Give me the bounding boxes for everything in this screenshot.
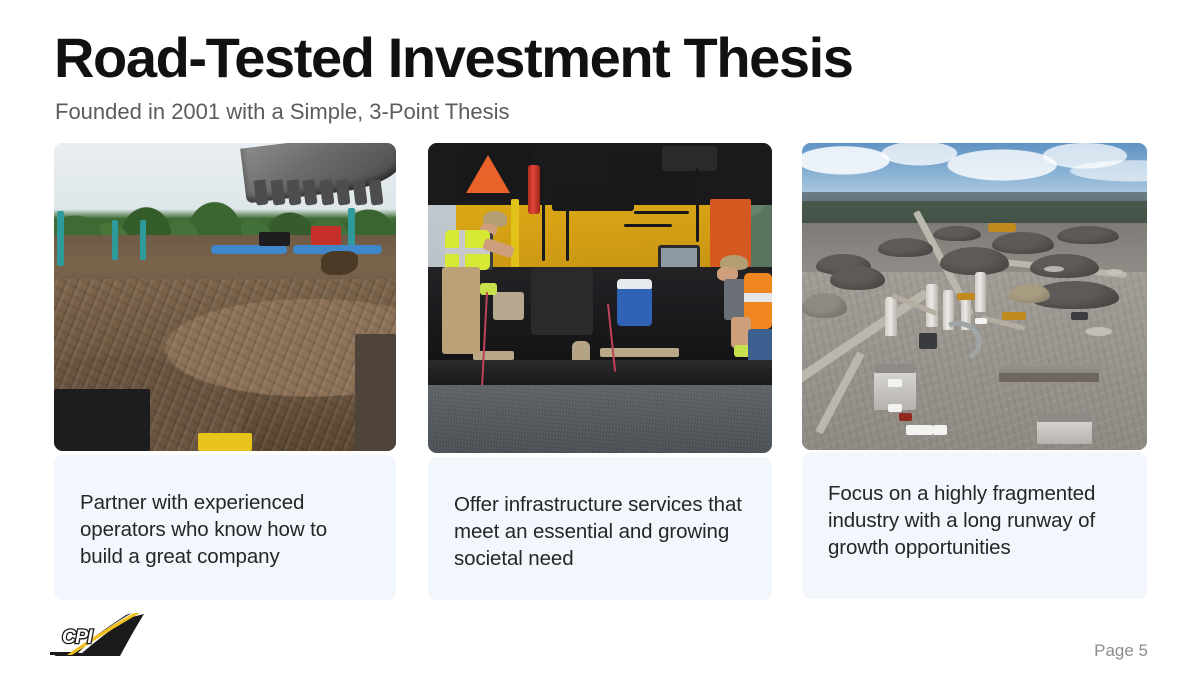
thesis-card-1-text: Partner with experienced operators who k… [80, 489, 370, 570]
feed-bin-wall [999, 373, 1099, 382]
stockpile [878, 238, 933, 256]
warning-triangle-sign [466, 155, 510, 193]
pickup-truck [888, 404, 902, 412]
plant-building [1037, 419, 1092, 444]
trailer [933, 425, 947, 434]
silt-fence [54, 389, 150, 451]
asphalt-paving-machine-photo [428, 143, 772, 453]
logo-text: CPI [62, 627, 93, 648]
stockpile [992, 232, 1054, 253]
silo [926, 284, 938, 327]
water-puddle [1044, 266, 1065, 272]
stockpile [1030, 254, 1099, 279]
hydraulic-hose [624, 224, 672, 227]
plant-machinery [919, 333, 936, 348]
excavator-bucket-teeth [252, 180, 389, 205]
page-number: Page 5 [1094, 641, 1148, 661]
yellow-equipment [198, 433, 253, 451]
crusher-equipment [988, 223, 1016, 232]
fresh-asphalt-mat [428, 385, 772, 453]
loader [1002, 312, 1026, 320]
thesis-card-1: Partner with experienced operators who k… [54, 455, 396, 600]
machine-track [355, 334, 396, 451]
equipment-box [311, 226, 342, 244]
pipe [112, 220, 118, 260]
page-title: Road-Tested Investment Thesis [54, 28, 853, 88]
aerial-quarry-aggregate-plant-photo [802, 143, 1147, 450]
water-cooler-lid [617, 279, 651, 288]
hydraulic-hose [634, 211, 689, 214]
thesis-card-2-text: Offer infrastructure services that meet … [454, 491, 746, 572]
fire-extinguisher [528, 165, 540, 215]
pickup-truck [899, 413, 913, 421]
paver-module [552, 186, 635, 211]
hydraulic-hose [566, 174, 569, 261]
construction-workers-excavation-photo [54, 143, 396, 451]
pipe [140, 220, 146, 260]
thesis-card-2: Offer infrastructure services that meet … [428, 457, 772, 600]
cpi-logo: CPI [48, 612, 144, 656]
slide-canvas: Road-Tested Investment Thesis Founded in… [0, 0, 1200, 675]
stockpile [940, 247, 1009, 275]
pipe [57, 211, 64, 266]
page-subtitle: Founded in 2001 with a Simple, 3-Point T… [55, 99, 510, 125]
hydraulic-hose [542, 180, 545, 261]
paver-frame [531, 267, 593, 335]
pickup-truck [888, 379, 902, 387]
water-cooler [617, 286, 651, 326]
stockpile [802, 293, 847, 318]
silo [975, 272, 986, 312]
paver-control-panel [662, 146, 717, 171]
thesis-card-3: Focus on a highly fragmented industry wi… [802, 452, 1147, 599]
hydraulic-hose [696, 168, 699, 242]
thesis-card-3-text: Focus on a highly fragmented industry wi… [828, 480, 1121, 561]
stockpile [933, 226, 981, 241]
pickup-truck [975, 318, 987, 324]
equipment-box [259, 232, 290, 246]
tool-box [493, 292, 524, 320]
plant-building-roof [874, 364, 915, 373]
stockpile [830, 266, 885, 291]
loader [957, 293, 974, 299]
stockpile [1009, 284, 1050, 302]
pickup-truck [906, 425, 934, 434]
plant-building-roof [1037, 413, 1092, 422]
water-puddle [1106, 269, 1123, 275]
stockpile [1057, 226, 1119, 244]
silo [885, 297, 897, 337]
pickup-truck [1071, 312, 1088, 320]
